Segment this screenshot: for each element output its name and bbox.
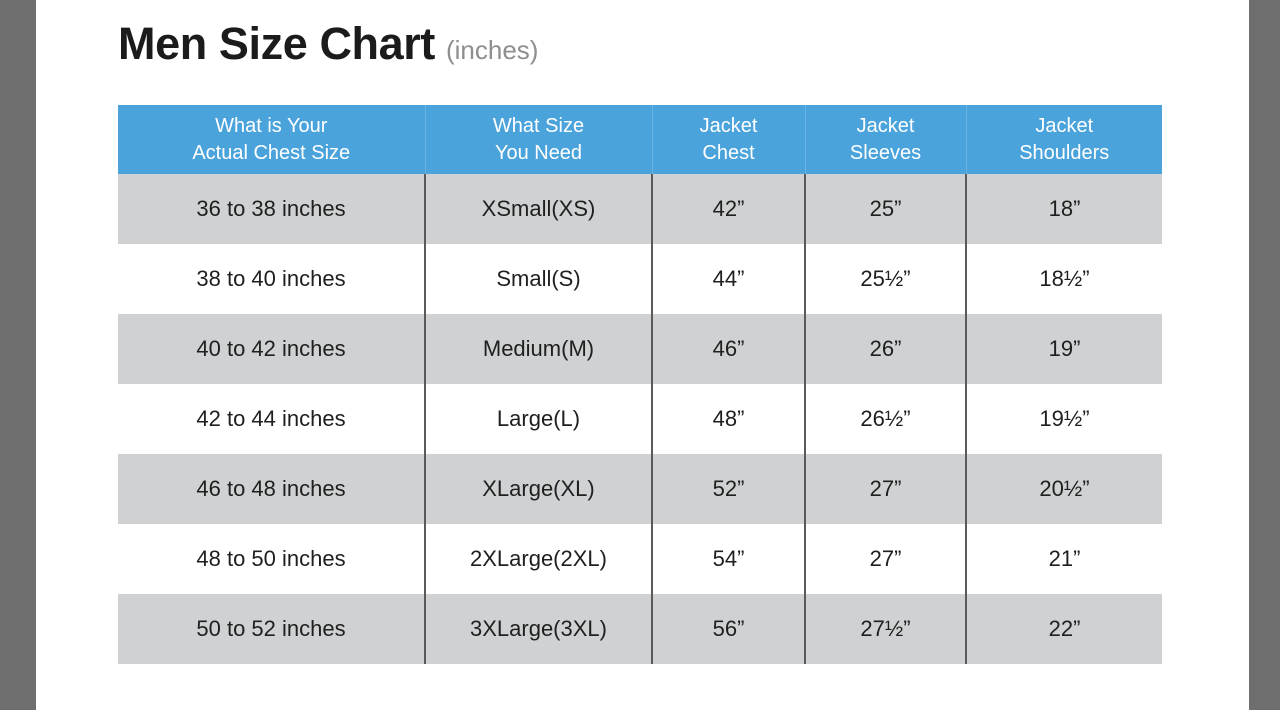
table-row: 42 to 44 inches Large(L) 48” 26½” 19½” <box>118 384 1162 454</box>
column-header-jacket-shoulders: Jacket Shoulders <box>966 105 1162 174</box>
cell-jacket-shoulders: 19” <box>966 314 1162 384</box>
column-header-size-needed: What Size You Need <box>425 105 652 174</box>
column-header-jacket-sleeves: Jacket Sleeves <box>805 105 966 174</box>
letterbox-left <box>0 0 36 710</box>
cell-chest-size: 38 to 40 inches <box>118 244 425 314</box>
page-title-main: Men Size Chart <box>118 18 435 70</box>
column-header-jacket-chest: Jacket Chest <box>652 105 805 174</box>
cell-jacket-chest: 48” <box>652 384 805 454</box>
cell-jacket-sleeves: 27½” <box>805 594 966 664</box>
table-row: 36 to 38 inches XSmall(XS) 42” 25” 18” <box>118 174 1162 244</box>
column-header-line2: You Need <box>426 140 652 166</box>
table-row: 48 to 50 inches 2XLarge(2XL) 54” 27” 21” <box>118 524 1162 594</box>
cell-chest-size: 48 to 50 inches <box>118 524 425 594</box>
cell-jacket-shoulders: 19½” <box>966 384 1162 454</box>
cell-size-needed: 2XLarge(2XL) <box>425 524 652 594</box>
cell-jacket-chest: 42” <box>652 174 805 244</box>
table-header-row: What is Your Actual Chest Size What Size… <box>118 105 1162 174</box>
table-row: 50 to 52 inches 3XLarge(3XL) 56” 27½” 22… <box>118 594 1162 664</box>
cell-chest-size: 46 to 48 inches <box>118 454 425 524</box>
column-header-line2: Actual Chest Size <box>118 140 425 166</box>
column-header-line2: Shoulders <box>967 140 1163 166</box>
cell-jacket-chest: 56” <box>652 594 805 664</box>
cell-jacket-sleeves: 25” <box>805 174 966 244</box>
column-header-line1: What is Your <box>118 113 425 139</box>
column-header-line2: Chest <box>653 140 805 166</box>
table-row: 46 to 48 inches XLarge(XL) 52” 27” 20½” <box>118 454 1162 524</box>
cell-size-needed: XSmall(XS) <box>425 174 652 244</box>
cell-jacket-chest: 44” <box>652 244 805 314</box>
cell-jacket-shoulders: 22” <box>966 594 1162 664</box>
cell-jacket-shoulders: 18½” <box>966 244 1162 314</box>
page-title: Men Size Chart (inches) <box>118 18 538 70</box>
page-title-units: (inches) <box>446 35 538 66</box>
size-chart-page: Men Size Chart (inches) What is Your Act… <box>36 0 1249 710</box>
cell-chest-size: 42 to 44 inches <box>118 384 425 454</box>
cell-size-needed: Large(L) <box>425 384 652 454</box>
column-header-line2: Sleeves <box>806 140 966 166</box>
cell-jacket-sleeves: 27” <box>805 524 966 594</box>
cell-jacket-shoulders: 20½” <box>966 454 1162 524</box>
column-header-line1: What Size <box>426 113 652 139</box>
cell-size-needed: Small(S) <box>425 244 652 314</box>
cell-jacket-sleeves: 26½” <box>805 384 966 454</box>
cell-chest-size: 36 to 38 inches <box>118 174 425 244</box>
cell-jacket-chest: 52” <box>652 454 805 524</box>
cell-size-needed: Medium(M) <box>425 314 652 384</box>
cell-jacket-chest: 46” <box>652 314 805 384</box>
table-row: 40 to 42 inches Medium(M) 46” 26” 19” <box>118 314 1162 384</box>
cell-jacket-chest: 54” <box>652 524 805 594</box>
cell-jacket-shoulders: 18” <box>966 174 1162 244</box>
letterbox-right <box>1249 0 1280 710</box>
cell-chest-size: 50 to 52 inches <box>118 594 425 664</box>
column-header-line1: Jacket <box>967 113 1163 139</box>
cell-jacket-shoulders: 21” <box>966 524 1162 594</box>
column-header-line1: Jacket <box>806 113 966 139</box>
column-header-chest-size: What is Your Actual Chest Size <box>118 105 425 174</box>
cell-size-needed: 3XLarge(3XL) <box>425 594 652 664</box>
cell-jacket-sleeves: 25½” <box>805 244 966 314</box>
cell-jacket-sleeves: 27” <box>805 454 966 524</box>
column-header-line1: Jacket <box>653 113 805 139</box>
cell-chest-size: 40 to 42 inches <box>118 314 425 384</box>
cell-size-needed: XLarge(XL) <box>425 454 652 524</box>
size-chart-table: What is Your Actual Chest Size What Size… <box>118 105 1162 664</box>
table-row: 38 to 40 inches Small(S) 44” 25½” 18½” <box>118 244 1162 314</box>
cell-jacket-sleeves: 26” <box>805 314 966 384</box>
